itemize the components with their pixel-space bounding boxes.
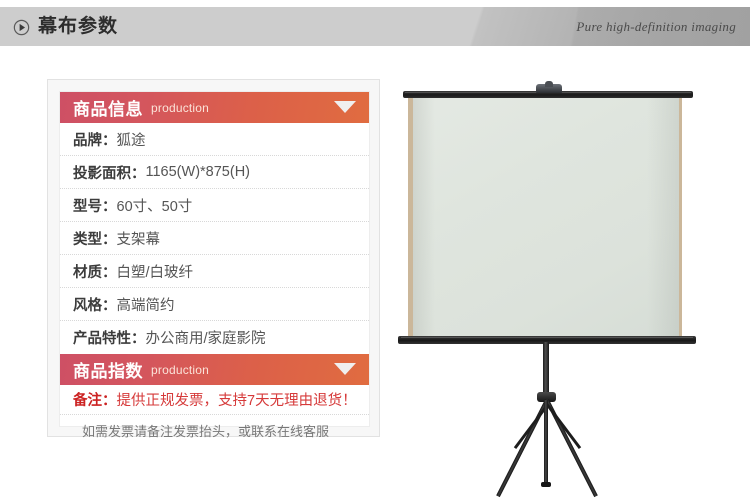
remark-value: 提供正规发票，支持7天无理由退货！ <box>117 389 357 410</box>
spec-key: 风格： <box>73 294 117 315</box>
play-circle-icon <box>13 19 30 36</box>
section-title-cn: 商品信息 <box>73 95 143 120</box>
screen-hook-knob <box>545 81 553 87</box>
screen-shade-right <box>647 97 679 342</box>
spec-key: 产品特性： <box>73 327 146 348</box>
triangle-down-icon[interactable] <box>334 101 356 113</box>
spec-key: 类型： <box>73 228 117 249</box>
spec-value: 白塑/白玻纤 <box>117 261 194 282</box>
spec-value: 60寸、50寸 <box>117 195 193 216</box>
spec-key: 材质： <box>73 261 117 282</box>
spec-card: 商品信息 production 品牌： 狐途 投影面积： 1165(W)*875… <box>59 91 370 427</box>
screen-surface <box>413 97 679 342</box>
section-title-en: production <box>151 363 209 377</box>
screen-shade-left <box>413 97 435 342</box>
product-image-tripod-projector-screen <box>395 80 745 480</box>
tripod-upper-pole <box>543 342 549 396</box>
spec-key: 品牌： <box>73 129 117 150</box>
banner-tagline: Pure high-definition imaging <box>576 19 736 35</box>
spec-key: 型号： <box>73 195 117 216</box>
section-header-product-info[interactable]: 商品信息 production <box>60 92 369 123</box>
screen-bottom-bar-highlight <box>401 337 693 338</box>
spec-value: 高端简约 <box>117 294 175 315</box>
spec-key: 投影面积： <box>73 162 146 183</box>
remark-subnote: 如需发票请备注发票抬头，或联系在线客服 <box>60 415 369 446</box>
page-title: 幕布参数 <box>38 16 118 38</box>
tripod-brace-right <box>546 404 581 449</box>
section-title-en: production <box>151 101 209 115</box>
remark-row: 备注： 提供正规发票，支持7天无理由退货！ <box>60 385 369 415</box>
table-row: 产品特性： 办公商用/家庭影院 <box>60 321 369 354</box>
table-row: 材质： 白塑/白玻纤 <box>60 255 369 288</box>
page-banner: 幕布参数 Pure high-definition imaging <box>0 7 750 46</box>
tripod-center-foot <box>541 482 551 487</box>
triangle-down-icon[interactable] <box>334 363 356 375</box>
remark-key: 备注： <box>73 389 117 410</box>
table-row: 类型： 支架幕 <box>60 222 369 255</box>
table-row: 投影面积： 1165(W)*875(H) <box>60 156 369 189</box>
section-title-cn: 商品指数 <box>73 357 143 382</box>
spec-value: 1165(W)*875(H) <box>146 164 251 180</box>
spec-row-list: 品牌： 狐途 投影面积： 1165(W)*875(H) 型号： 60寸、50寸 … <box>60 123 369 354</box>
section-header-product-index[interactable]: 商品指数 production <box>60 354 369 385</box>
tripod-center-leg <box>544 400 548 486</box>
spec-panel: 商品信息 production 品牌： 狐途 投影面积： 1165(W)*875… <box>47 79 380 437</box>
spec-value: 办公商用/家庭影院 <box>146 327 266 348</box>
spec-value: 支架幕 <box>117 228 161 249</box>
table-row: 型号： 60寸、50寸 <box>60 189 369 222</box>
product-spec-page: 幕布参数 Pure high-definition imaging 商品信息 p… <box>0 0 750 500</box>
spec-value: 狐途 <box>117 129 146 150</box>
table-row: 品牌： 狐途 <box>60 123 369 156</box>
table-row: 风格： 高端简约 <box>60 288 369 321</box>
